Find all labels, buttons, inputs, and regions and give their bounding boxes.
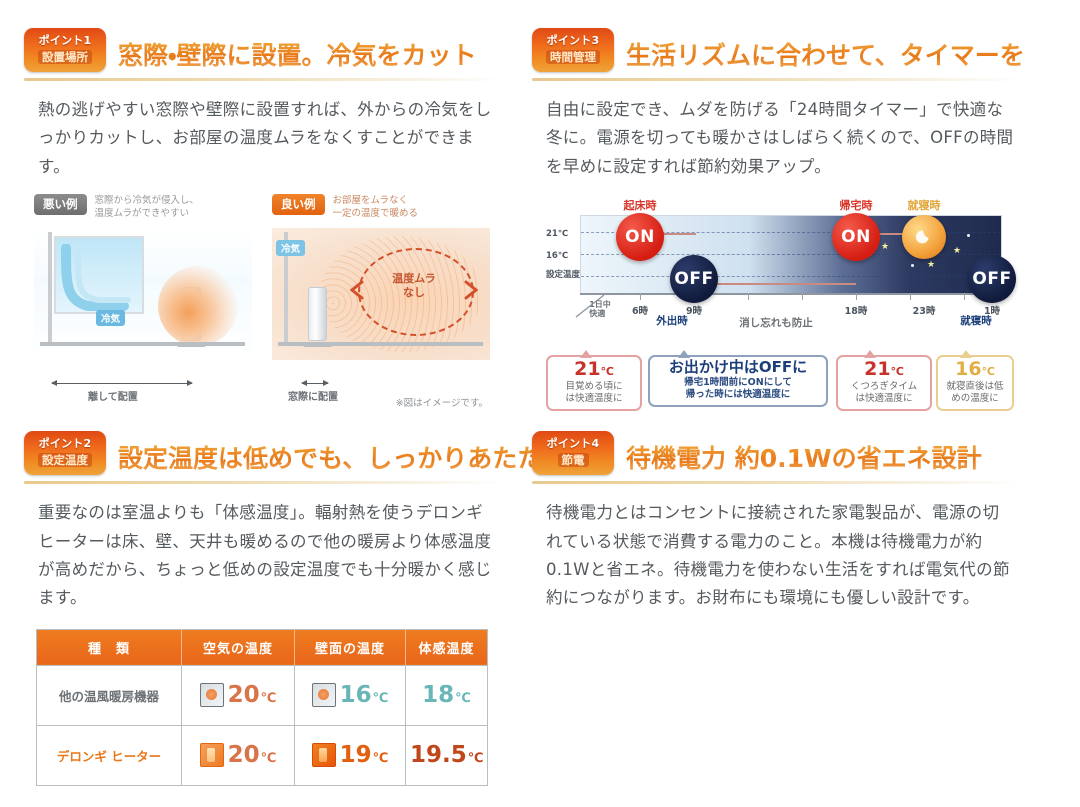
timer-badge-sleep-moon (902, 215, 946, 259)
value-wall-other-number: 16 (340, 682, 372, 708)
section-header-point1: ポイント1 設置場所 窓際・壁際に設置。冷気をカット (24, 28, 504, 81)
bad-example-tag: 悪い例 (34, 194, 87, 215)
section-point4: ポイント4 節電 待機電力 約0.1Wの省エネ設計 待機電力とはコンセントに接続… (532, 431, 1022, 613)
inline-label-bedtime: 就寝時 (960, 313, 992, 328)
section-point3: ポイント3 時間管理 生活リズムに合わせて、タイマーを 自由に設定でき、ムダを防… (532, 28, 1022, 405)
badge-point3-number: ポイント3 (547, 35, 600, 47)
badge-point3: ポイント3 時間管理 (532, 28, 614, 72)
callout-evening-unit: ℃ (891, 365, 904, 378)
bad-example-scene: 冷気 (34, 228, 252, 360)
feature-grid: ポイント1 設置場所 窓際・壁際に設置。冷気をカット 熱の逃げやすい窓際や壁際に… (24, 28, 1056, 786)
cell-wall-other: 16℃ (295, 665, 406, 725)
cold-air-label: 冷気 (276, 240, 305, 256)
event-label-wakeup: 起床時 (624, 197, 657, 213)
section-point1-title: 窓際・壁際に設置。冷気をカット (118, 42, 477, 73)
x-tick (964, 293, 965, 300)
illustration-note: ※図はイメージです。 (396, 395, 488, 409)
callout-evening-number: 21 (864, 358, 890, 380)
timer-badge-on-morning: ON (616, 213, 664, 261)
section-point2-body: 重要なのは室温よりも「体感温度」。輻射熱を使うデロンギヒーターは床、壁、天井も暖… (38, 499, 498, 613)
table-head: 種 類 空気の温度 壁面の温度 体感温度 (37, 629, 488, 665)
cell-felt-other: 18℃ (406, 665, 488, 725)
heater-unit-good (308, 287, 327, 341)
callout-tip (580, 350, 592, 358)
good-example-dim-label: 窓際に配置 (288, 388, 338, 403)
x-tick (910, 293, 911, 300)
cell-wall-delonghi: 19℃ (295, 725, 406, 785)
inline-label-away: 外出時 (656, 313, 688, 328)
x-tick-label-6: 6時 (632, 303, 648, 317)
good-example-tagrow: 良い例 お部屋をムラなく 一定の温度で暖める (272, 194, 490, 228)
badge-point3-subject: 時間管理 (546, 50, 600, 65)
dimension-arrow-good (302, 383, 328, 384)
floor-line (40, 342, 245, 346)
gridline-base (581, 276, 1001, 277)
heat-glow-bad (158, 266, 238, 346)
wall-shape (48, 232, 52, 344)
badge-point1-subject: 設置場所 (38, 50, 92, 65)
value-wall-delonghi-unit: ℃ (373, 751, 389, 766)
table-row: 他の温風暖房機器 20℃ (37, 665, 488, 725)
value-air-other: 20℃ (228, 684, 277, 707)
x-tick (640, 293, 641, 300)
callout-bedtime-number: 16 (955, 358, 981, 380)
bad-example-dimension: 離して配置 (34, 371, 252, 411)
section-header-point2: ポイント2 設定温度 設定温度は低めでも、しっかりあたたか (24, 431, 504, 484)
value-felt-other: 18℃ (422, 682, 471, 708)
value-wall-other-unit: ℃ (373, 691, 389, 706)
badge-point4-subject: 節電 (558, 453, 589, 468)
room-cube-icon (200, 683, 224, 707)
row-label-other: 他の温風暖房機器 (59, 689, 159, 704)
star-icon: ★ (881, 242, 889, 252)
section-point2-title: 設定温度は低めでも、しっかりあたたか (118, 445, 567, 476)
callout-tip (678, 350, 690, 358)
floor-line (278, 342, 483, 346)
value-felt-delonghi: 19.5℃ (410, 742, 484, 768)
value-air-delonghi-number: 20 (228, 742, 260, 768)
timer-badge-off-away: OFF (670, 255, 718, 303)
value-felt-other-number: 18 (422, 682, 454, 708)
room-cube-icon (312, 743, 336, 767)
callout-morning-unit: ℃ (601, 365, 614, 378)
good-example-tag: 良い例 (272, 194, 325, 215)
badge-point4: ポイント4 節電 (532, 431, 614, 475)
x-tick-label-18: 18時 (845, 303, 868, 317)
value-air-delonghi: 20℃ (228, 744, 277, 767)
table-header-row: 種 類 空気の温度 壁面の温度 体感温度 (37, 629, 488, 665)
room-cube-icon (312, 683, 336, 707)
callout-morning-number: 21 (574, 358, 600, 380)
room-cube-icon (200, 743, 224, 767)
badge-point1: ポイント1 設置場所 (24, 28, 106, 72)
timer-badge-on-evening: ON (832, 213, 880, 261)
good-example-dimension: 窓際に配置 ※図はイメージです。 (272, 371, 490, 411)
callout-evening-value: 21℃ (843, 360, 925, 380)
x-tick (802, 293, 803, 300)
x-tick (748, 293, 749, 300)
bad-example-caption: 窓際から冷気が侵入し、 温度ムラができやすい (95, 194, 200, 220)
y-axis-label: 設定温度 (546, 271, 576, 280)
callout-bedtime-unit: ℃ (982, 365, 995, 378)
x-tick-label-23: 23時 (913, 303, 936, 317)
callout-away-title: お出かけ中はOFFに (655, 360, 821, 376)
y-tick-16c: 16℃ (546, 251, 568, 261)
section-header-point4: ポイント4 節電 待機電力 約0.1Wの省エネ設計 (532, 431, 1022, 484)
inline-label-forget: 消し忘れも防止 (739, 315, 813, 330)
dimension-arrow-bad (52, 383, 192, 384)
timer-badge-off-night: OFF (968, 255, 1016, 303)
value-felt-delonghi-unit: ℃ (468, 751, 484, 766)
cell-air-delonghi: 20℃ (182, 725, 295, 785)
table-body: 他の温風暖房機器 20℃ (37, 665, 488, 785)
callout-away: お出かけ中はOFFに 帰宅1時間前にONにして 帰った時には快適温度に (648, 355, 828, 407)
badge-point2: ポイント2 設定温度 (24, 431, 106, 475)
section-header-point3: ポイント3 時間管理 生活リズムに合わせて、タイマーを (532, 28, 1022, 81)
th-felt: 体感温度 (406, 629, 488, 665)
callout-bedtime-text: 就寝直後は低 めの温度に (943, 381, 1007, 405)
timer-callouts: 21℃ 目覚める頃に は快適温度に お出かけ中はOFFに 帰宅1時間前にONにし… (544, 343, 1014, 405)
line-segment-off1 (696, 283, 856, 285)
event-label-home: 帰宅時 (840, 197, 873, 213)
even-temperature-label: 温度ムラ なし (376, 272, 452, 300)
section-point4-body: 待機電力とはコンセントに接続された家電製品が、電源の切れている状態で消費する電力… (546, 499, 1016, 613)
good-example-panel: 良い例 お部屋をムラなく 一定の温度で暖める 冷気 (272, 194, 490, 409)
origin-pointer-icon (574, 293, 608, 319)
badge-point2-number: ポイント2 (39, 438, 92, 450)
callout-tip (960, 350, 972, 358)
value-air-other-unit: ℃ (261, 691, 277, 706)
cold-air-label: 冷気 (96, 310, 125, 326)
x-axis-line (580, 293, 1000, 295)
callout-morning-value: 21℃ (553, 360, 635, 380)
bad-example-panel: 悪い例 窓際から冷気が侵入し、 温度ムラができやすい 冷気 (34, 194, 252, 409)
th-wall: 壁面の温度 (295, 629, 406, 665)
callout-bedtime: 16℃ 就寝直後は低 めの温度に (936, 355, 1014, 411)
value-wall-other: 16℃ (340, 684, 389, 707)
th-type: 種 類 (37, 629, 182, 665)
cell-type-other: 他の温風暖房機器 (37, 665, 182, 725)
timer-chart: ★ ★ ★ 21℃ 16℃ 設定温度 6時 9時 18時 (544, 193, 1014, 405)
section-point1-body: 熱の逃げやすい窓際や壁際に設置すれば、外からの冷気をしっかりカットし、お部屋の温… (38, 96, 498, 181)
cell-air-other: 20℃ (182, 665, 295, 725)
table-row: デロンギ ヒーター 20℃ (37, 725, 488, 785)
callout-away-text: 帰宅1時間前にONにして 帰った時には快適温度に (655, 377, 821, 401)
bad-example-dim-label: 離して配置 (88, 388, 138, 403)
star-icon: ★ (927, 260, 935, 270)
value-felt-other-unit: ℃ (455, 691, 471, 706)
section-point3-title: 生活リズムに合わせて、タイマーを (626, 42, 1025, 73)
section-point3-body: 自由に設定でき、ムダを防げる「24時間タイマー」で快適な冬に。電源を切っても暖か… (546, 96, 1016, 181)
badge-point2-subject: 設定温度 (38, 453, 92, 468)
badge-point1-number: ポイント1 (39, 35, 92, 47)
temperature-comparison-table: 種 類 空気の温度 壁面の温度 体感温度 他の温風暖房機器 (36, 629, 488, 786)
value-air-other-number: 20 (228, 682, 260, 708)
bad-example-tagrow: 悪い例 窓際から冷気が侵入し、 温度ムラができやすい (34, 194, 252, 228)
callout-bedtime-value: 16℃ (943, 360, 1007, 380)
callout-tip (864, 350, 876, 358)
badge-point4-number: ポイント4 (547, 438, 600, 450)
x-tick (856, 293, 857, 300)
row-label-delonghi: デロンギ ヒーター (57, 749, 161, 764)
cell-type-delonghi: デロンギ ヒーター (37, 725, 182, 785)
y-tick-21c: 21℃ (546, 229, 568, 239)
value-wall-delonghi-number: 19 (340, 742, 372, 768)
callout-morning-text: 目覚める頃に は快適温度に (553, 381, 635, 405)
callout-evening-text: くつろぎタイム は快適温度に (843, 381, 925, 405)
value-felt-delonghi-number: 19.5 (410, 742, 467, 768)
callout-evening: 21℃ くつろぎタイム は快適温度に (836, 355, 932, 411)
value-wall-delonghi: 19℃ (340, 744, 389, 767)
moon-icon (913, 226, 935, 248)
star-dot (911, 264, 914, 267)
product-feature-page: ポイント1 設置場所 窓際・壁際に設置。冷気をカット 熱の逃げやすい窓際や壁際に… (0, 0, 1080, 807)
section-point4-title: 待機電力 約0.1Wの省エネ設計 (626, 445, 982, 476)
star-dot (967, 234, 970, 237)
good-example-caption: お部屋をムラなく 一定の温度で暖める (333, 194, 419, 220)
section-point1: ポイント1 設置場所 窓際・壁際に設置。冷気をカット 熱の逃げやすい窓際や壁際に… (24, 28, 504, 409)
arrow-right-icon (464, 280, 478, 300)
installation-illustration: 悪い例 窓際から冷気が侵入し、 温度ムラができやすい 冷気 (34, 194, 494, 409)
arrow-left-icon (350, 280, 364, 300)
callout-morning: 21℃ 目覚める頃に は快適温度に (546, 355, 642, 411)
th-air: 空気の温度 (182, 629, 295, 665)
value-air-delonghi-unit: ℃ (261, 751, 277, 766)
good-example-scene: 冷気 温度ムラ なし (272, 228, 490, 360)
cell-felt-delonghi: 19.5℃ (406, 725, 488, 785)
section-point2: ポイント2 設定温度 設定温度は低めでも、しっかりあたたか 重要なのは室温よりも… (24, 431, 504, 786)
event-label-bedtime: 就寝時 (908, 197, 941, 213)
x-tick-label-9: 9時 (686, 303, 702, 317)
star-icon: ★ (953, 246, 961, 256)
